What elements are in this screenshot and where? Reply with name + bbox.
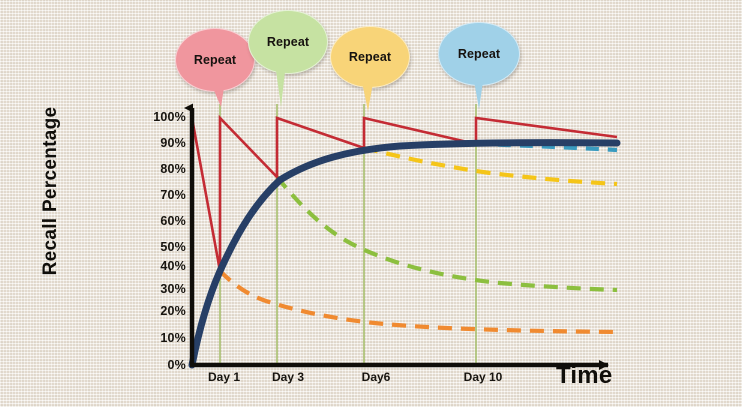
y-tick-100: 100%: [128, 110, 186, 124]
repeat-bubble-day10-tail: [473, 75, 484, 109]
repeat-bubble-day6-label: Repeat: [349, 50, 391, 64]
x-tick-day1: Day 1: [208, 370, 240, 384]
x-tick-day10: Day 10: [464, 370, 503, 384]
repeat-bubble-day6[interactable]: Repeat: [330, 26, 410, 88]
repeat-bubble-day3-label: Repeat: [267, 35, 309, 49]
x-tick-day3: Day 3: [272, 370, 304, 384]
repeat-bubble-day6-tail: [361, 77, 374, 111]
repeat-bubble-day3-tail: [275, 63, 286, 107]
repeat-bubble-day1-label: Repeat: [194, 53, 236, 67]
series-forgetting-1-line: [220, 271, 617, 332]
series-forgetting-2-line: [277, 177, 617, 290]
series-forgetting-3-line: [364, 148, 617, 184]
y-tick-50: 50%: [128, 240, 186, 254]
x-tick-day6: Day6: [362, 370, 391, 384]
y-axis-title: Recall Percentage: [40, 96, 62, 286]
repeat-bubble-day3[interactable]: Repeat: [248, 10, 328, 74]
y-tick-70: 70%: [128, 188, 186, 202]
y-tick-40: 40%: [128, 259, 186, 273]
y-tick-90: 90%: [128, 136, 186, 150]
repeat-bubble-day10[interactable]: Repeat: [438, 22, 520, 86]
repeat-bubble-day1-tail: [210, 81, 225, 107]
repeat-bubble-day10-label: Repeat: [458, 47, 500, 61]
chart-canvas: 100% 90% 80% 70% 60% 50% 40% 30% 20% 10%…: [0, 0, 742, 407]
y-tick-30: 30%: [128, 282, 186, 296]
y-tick-0: 0%: [128, 358, 186, 372]
y-tick-80: 80%: [128, 162, 186, 176]
x-axis-title: Time: [556, 362, 612, 390]
y-tick-10: 10%: [128, 331, 186, 345]
y-tick-20: 20%: [128, 304, 186, 318]
repeat-bubble-day1[interactable]: Repeat: [175, 28, 255, 92]
y-tick-60: 60%: [128, 214, 186, 228]
